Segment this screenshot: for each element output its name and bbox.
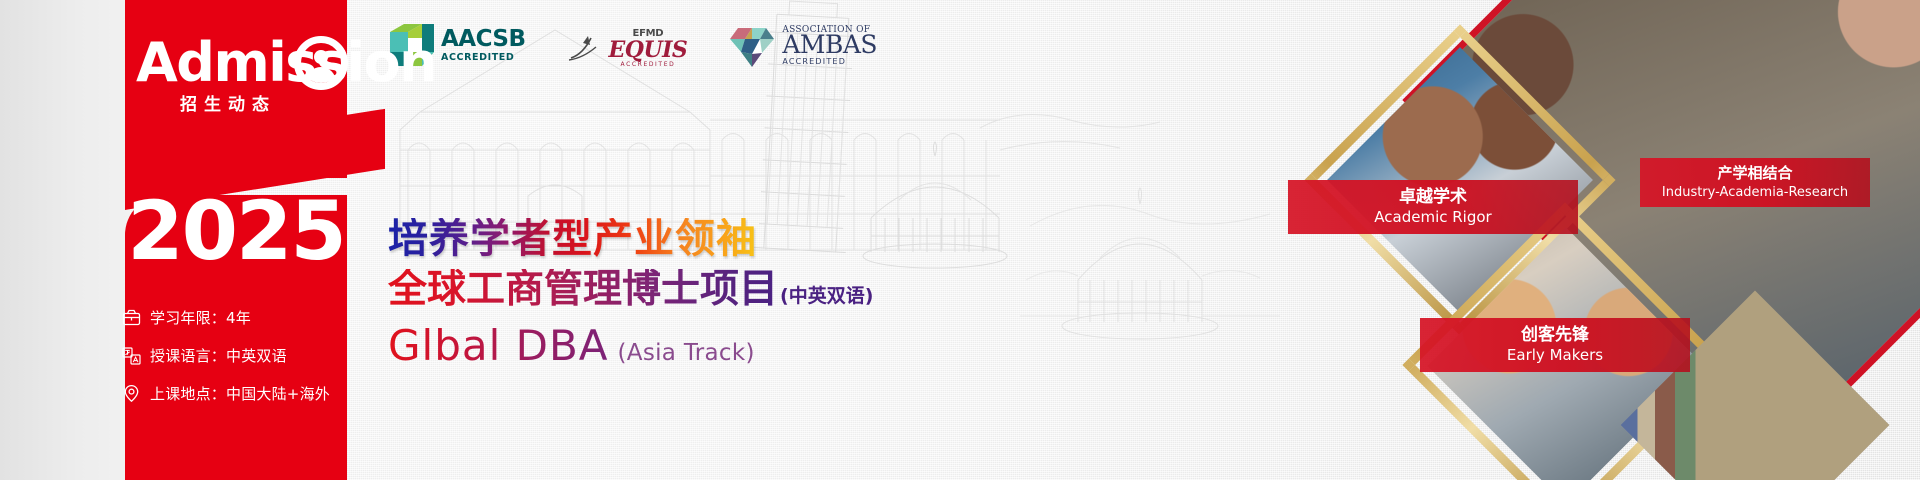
location-pin-icon [120, 384, 142, 404]
headline-tagline: 培养学者型产业领袖 [388, 218, 873, 261]
efmd-swoosh-icon [568, 34, 602, 64]
amba-logo: ASSOCIATION OF AMBAS ACCREDITED [729, 24, 877, 68]
program-language-note: (中英双语) [780, 286, 873, 307]
admission-chinese-label: 招生动态 [180, 90, 276, 115]
amba-diamond-icon [729, 24, 775, 68]
info-text-duration: 学习年限：4年 [150, 307, 251, 328]
info-row-language: 授课语言：中英双语 [120, 345, 360, 366]
info-row-location: 上课地点：中国大陆+海外 [120, 383, 360, 404]
aacsb-name: AACSB [441, 28, 526, 51]
accreditation-logos: AACSB ACCREDITED EFMD EQUIS ACCREDITED [388, 22, 877, 68]
amba-name: AMBAS [782, 32, 877, 57]
info-text-language: 授课语言：中英双语 [150, 345, 287, 366]
program-track-note: (Asia Track) [618, 340, 755, 366]
language-icon [120, 346, 142, 366]
calendar-icon [120, 308, 142, 328]
label-academic-en: Academic Rigor [1302, 209, 1564, 227]
headline-program-en: Glbal DBA (Asia Track) [388, 321, 873, 370]
person-avatar-icon [294, 36, 348, 90]
equis-status: ACCREDITED [621, 62, 676, 68]
equis-name: EQUIS [609, 39, 688, 61]
label-makers-cn: 创客先锋 [1434, 325, 1676, 345]
program-info-list: 学习年限：4年 授课语言：中英双语 上课地点：中国大陆+海外 [120, 307, 360, 421]
headline-program-cn: 全球工商管理博士项目 (中英双语) [388, 269, 873, 312]
amba-status: ACCREDITED [782, 58, 877, 66]
info-text-location: 上课地点：中国大陆+海外 [150, 383, 330, 404]
info-row-duration: 学习年限：4年 [120, 307, 360, 328]
admission-wordmark: Admission [136, 36, 436, 90]
headline-block: 培养学者型产业领袖 全球工商管理博士项目 (中英双语) Glbal DBA (A… [388, 218, 873, 370]
program-name-cn: 全球工商管理博士项目 [388, 269, 778, 312]
label-makers-en: Early Makers [1434, 347, 1676, 365]
admission-logo: Admission 招生动态 [128, 34, 352, 134]
photo-collage: 产学相结合 Industry-Academia-Research 卓越学术 Ac… [1120, 0, 1920, 480]
aacsb-status: ACCREDITED [441, 53, 526, 63]
label-academic-cn: 卓越学术 [1302, 187, 1564, 207]
label-academic-rigor: 卓越学术 Academic Rigor [1288, 180, 1578, 234]
label-industry-academia: 产学相结合 Industry-Academia-Research [1640, 158, 1870, 207]
label-early-makers: 创客先锋 Early Makers [1420, 318, 1690, 372]
label-industry-cn: 产学相结合 [1654, 165, 1856, 183]
admission-banner: Admission 招生动态 2025 学习年限：4年 [0, 0, 1920, 480]
year-2025: 2025 [125, 192, 347, 273]
program-name-en: Glbal DBA [388, 321, 609, 370]
left-edge-gradient [0, 0, 130, 480]
label-industry-en: Industry-Academia-Research [1654, 185, 1856, 201]
equis-logo: EFMD EQUIS ACCREDITED [568, 29, 688, 68]
